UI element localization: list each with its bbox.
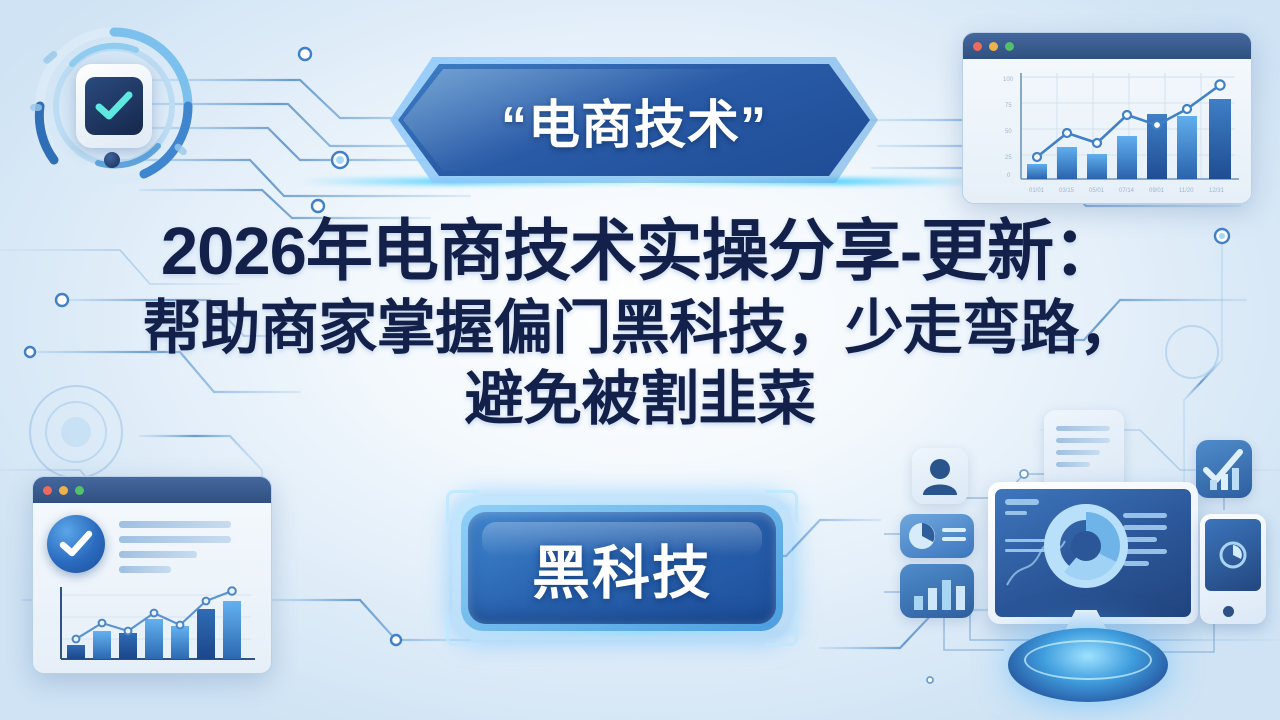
text-placeholder-line <box>119 551 197 558</box>
analytics-browser-window[interactable]: 10075 5025 0 <box>962 32 1252 204</box>
desktop-monitor[interactable] <box>988 482 1198 624</box>
window-content: 10075 5025 0 <box>963 59 1251 203</box>
bar-line-chart: 10075 5025 0 <box>963 59 1251 203</box>
ecommerce-device-cluster <box>884 402 1280 720</box>
svg-text:03/15: 03/15 <box>1059 188 1075 194</box>
corner-bracket-top-right-icon <box>765 490 798 523</box>
corner-bracket-top-left-icon <box>446 490 479 523</box>
svg-text:05/01: 05/01 <box>1089 188 1105 194</box>
device-home-button <box>104 152 120 168</box>
pie-card-tile[interactable] <box>900 514 974 558</box>
cta-body: 黑科技 <box>468 512 776 624</box>
corner-bracket-bottom-left-icon <box>446 613 479 646</box>
user-icon <box>912 448 968 504</box>
svg-text:01/01: 01/01 <box>1029 188 1045 194</box>
dashboard-donut-chart <box>995 489 1177 603</box>
minimize-dot-icon[interactable] <box>989 42 998 51</box>
pie-chart-icon <box>900 514 974 558</box>
top-badge[interactable]: “电商技术” <box>398 64 870 176</box>
verified-report-browser-window[interactable] <box>32 476 272 674</box>
svg-text:50: 50 <box>1005 129 1012 135</box>
close-dot-icon[interactable] <box>43 486 52 495</box>
svg-text:07/14: 07/14 <box>1119 188 1135 194</box>
window-title-bar <box>33 477 271 503</box>
minimize-dot-icon[interactable] <box>59 486 68 495</box>
window-content <box>33 503 271 673</box>
user-avatar-tile[interactable] <box>912 448 968 504</box>
glow-platform <box>1008 628 1168 702</box>
corner-bracket-bottom-right-icon <box>765 613 798 646</box>
device-screen <box>85 77 143 135</box>
svg-text:12/31: 12/31 <box>1209 188 1225 194</box>
check-icon <box>94 90 134 122</box>
monitor-screen <box>995 489 1191 617</box>
svg-text:25: 25 <box>1005 155 1012 161</box>
close-dot-icon[interactable] <box>973 42 982 51</box>
verified-device-emblem <box>24 24 204 194</box>
text-placeholder-line <box>119 521 231 528</box>
phone-home-button[interactable] <box>1223 606 1234 617</box>
check-icon <box>59 530 93 558</box>
smartphone-tile[interactable] <box>1200 514 1266 624</box>
maximize-dot-icon[interactable] <box>1005 42 1014 51</box>
window-title-bar <box>963 33 1251 59</box>
svg-text:75: 75 <box>1005 103 1012 109</box>
svg-text:09/01: 09/01 <box>1149 188 1165 194</box>
svg-text:11/20: 11/20 <box>1179 188 1194 194</box>
cta-label: 黑科技 <box>532 526 712 610</box>
page-title: 2026年电商技术实操分享-更新： 帮助商家掌握偏门黑科技，少走弯路， 避免被割… <box>0 216 1280 430</box>
maximize-dot-icon[interactable] <box>75 486 84 495</box>
growth-check-tile[interactable] <box>1196 440 1252 498</box>
bar-card-tile[interactable] <box>900 564 974 618</box>
check-circle-icon <box>47 515 105 573</box>
headline-line-1: 2026年电商技术实操分享-更新： <box>0 216 1280 287</box>
hei-ke-ji-button[interactable]: 黑科技 <box>452 496 792 640</box>
svg-text:100: 100 <box>1003 77 1014 83</box>
bar-chart-icon <box>900 564 974 618</box>
top-badge-label: “电商技术” <box>501 83 767 158</box>
device-body <box>76 64 152 148</box>
svg-text:0: 0 <box>1007 173 1011 179</box>
text-placeholder-line <box>119 566 171 573</box>
bar-line-chart <box>39 581 265 671</box>
phone-screen <box>1205 519 1261 591</box>
banner-canvas: 10075 5025 0 <box>0 0 1280 720</box>
headline-line-2: 帮助商家掌握偏门黑科技，少走弯路， <box>0 297 1280 360</box>
text-placeholder-line <box>119 536 231 543</box>
headline-line-3: 避免被割韭菜 <box>0 368 1280 431</box>
check-chart-icon <box>1196 440 1252 498</box>
pie-chart-icon <box>1216 538 1250 572</box>
